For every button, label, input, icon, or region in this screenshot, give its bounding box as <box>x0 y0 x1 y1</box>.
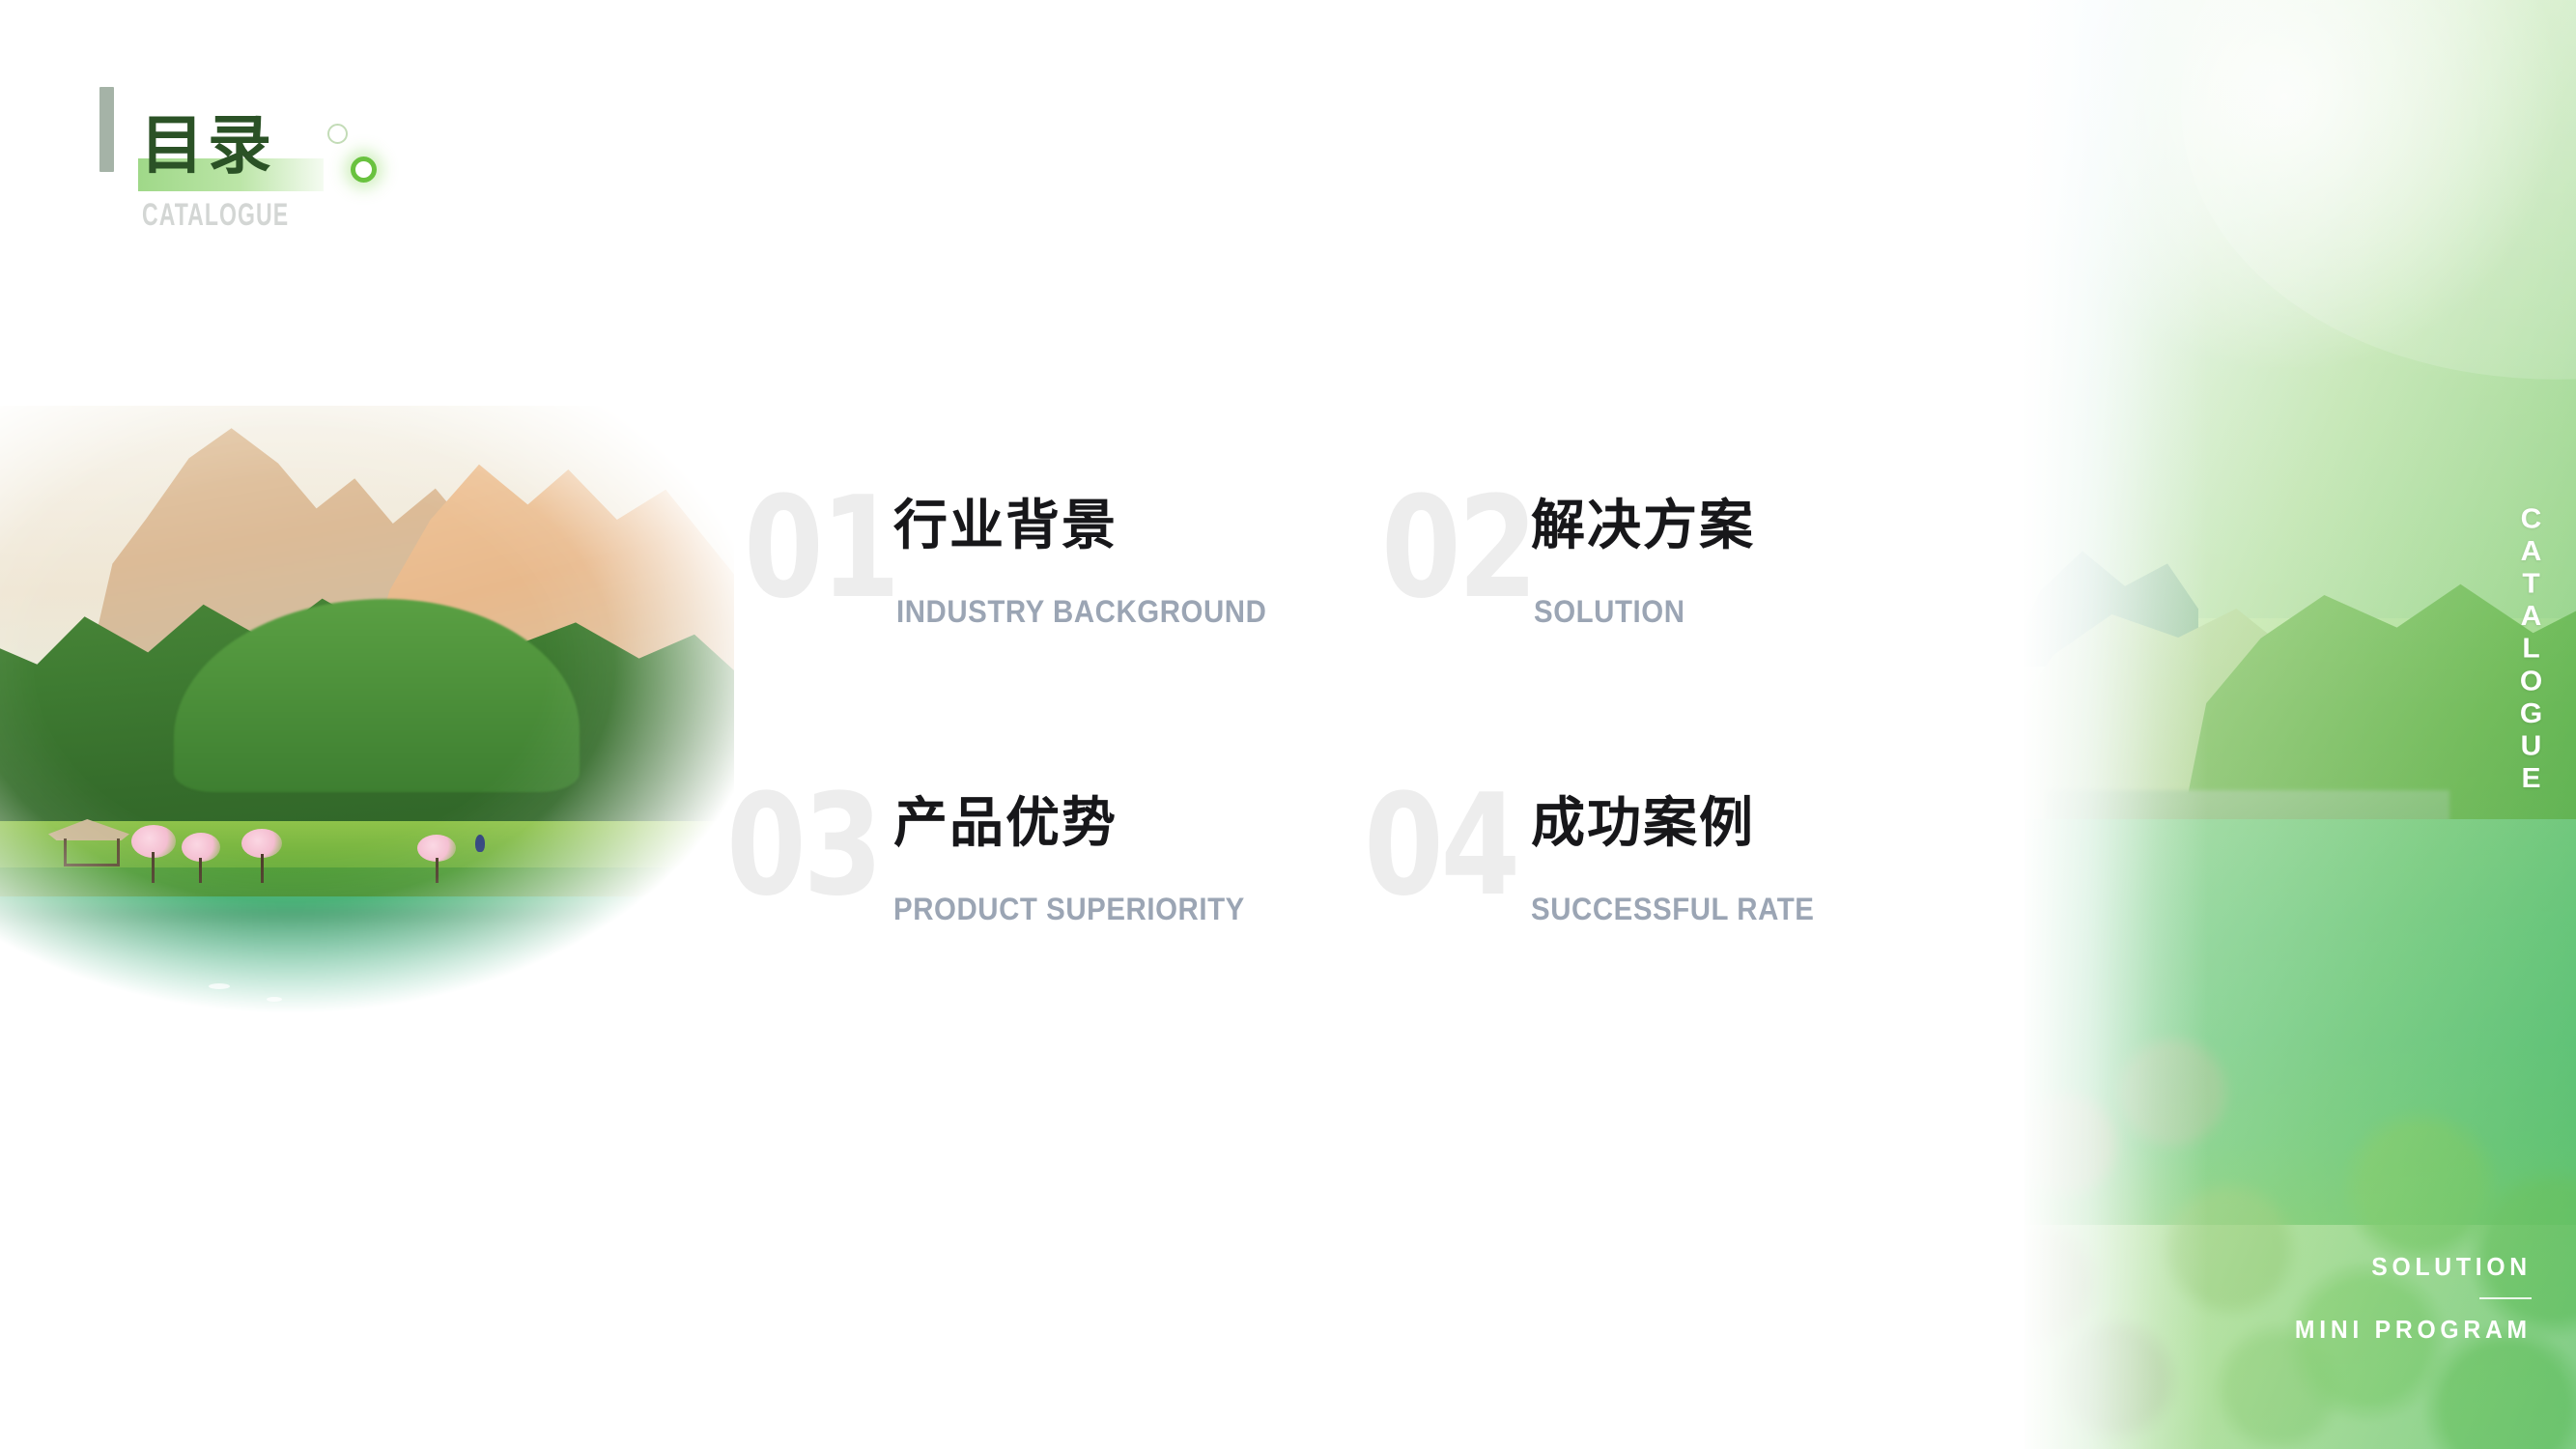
circle-outline-accent-icon <box>351 156 377 183</box>
photo-tree-trunk <box>261 854 264 883</box>
circle-outline-icon <box>327 124 348 144</box>
page-title: 目录 <box>140 114 275 178</box>
catalogue-item-subtitle: PRODUCT SUPERIORITY <box>893 894 1245 924</box>
catalogue-item-subtitle: SOLUTION <box>1534 596 1685 627</box>
photo-water-foam <box>209 983 230 989</box>
photo-bird <box>475 835 485 852</box>
catalogue-item-02[interactable]: 02 解决方案 SOLUTION <box>1381 478 1999 720</box>
catalogue-slide: 目录 CATALOGUE 01 行业背景 INDUSTRY BACKGROUND… <box>0 0 2576 1449</box>
catalogue-item-title: 产品优势 <box>893 797 1118 851</box>
photo-water-foam <box>114 993 131 998</box>
catalogue-item-subtitle: SUCCESSFUL RATE <box>1531 894 1814 924</box>
catalogue-item-title: 行业背景 <box>893 499 1118 554</box>
footer-solution-label: SOLUTION <box>2295 1252 2532 1282</box>
photo-tree-trunk <box>436 858 439 883</box>
catalogue-grid: 01 行业背景 INDUSTRY BACKGROUND 02 解决方案 SOLU… <box>744 478 1980 1019</box>
catalogue-item-number: 03 <box>726 776 880 916</box>
catalogue-item-04[interactable]: 04 成功案例 SUCCESSFUL RATE <box>1364 776 1982 1017</box>
right-panel-footer: SOLUTION MINI PROGRAM <box>2282 1252 2532 1345</box>
footer-mini-program-label: MINI PROGRAM <box>2295 1315 2532 1345</box>
catalogue-item-01[interactable]: 01 行业背景 INDUSTRY BACKGROUND <box>744 478 1362 720</box>
footer-divider <box>2479 1297 2532 1299</box>
catalogue-item-03[interactable]: 03 产品优势 PRODUCT SUPERIORITY <box>726 776 1345 1017</box>
catalogue-item-subtitle: INDUSTRY BACKGROUND <box>896 596 1266 627</box>
photo-reflection <box>0 908 599 1024</box>
right-panel-left-fade <box>2024 0 2208 1449</box>
photo-tree-trunk <box>199 858 202 883</box>
photo-tree-trunk <box>152 852 155 883</box>
page-title-block: 目录 CATALOGUE <box>92 56 497 182</box>
photo-water-foam <box>17 985 42 991</box>
landscape-photo-left <box>0 406 734 1024</box>
catalogue-item-number: 04 <box>1364 776 1517 916</box>
vertical-catalogue-label: CATALOGUE <box>2509 503 2551 795</box>
title-accent-bar <box>99 87 114 172</box>
photo-water-foam <box>267 997 282 1002</box>
page-title-subtitle: CATALOGUE <box>142 199 289 230</box>
right-decorative-panel: CATALOGUE SOLUTION MINI PROGRAM <box>2024 0 2576 1449</box>
catalogue-item-number: 01 <box>744 478 897 618</box>
catalogue-item-title: 成功案例 <box>1531 797 1755 851</box>
photo-pavilion <box>48 819 129 864</box>
catalogue-item-title: 解决方案 <box>1531 499 1755 554</box>
catalogue-item-number: 02 <box>1381 478 1535 618</box>
